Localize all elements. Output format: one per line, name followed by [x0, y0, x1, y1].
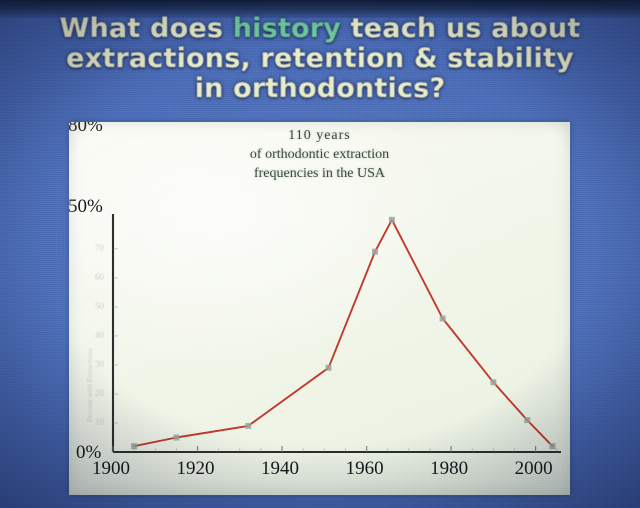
photo-grain [0, 0, 640, 508]
slide-photo: What does history teach us about extract… [0, 0, 640, 508]
